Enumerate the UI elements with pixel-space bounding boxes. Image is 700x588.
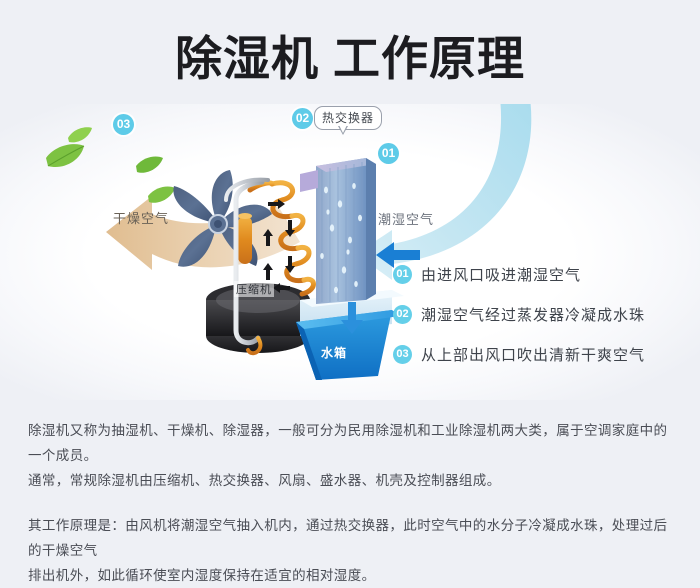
legend-text-01: 由进风口吸进潮湿空气 <box>421 264 581 285</box>
humid-air-label: 潮湿空气 <box>378 209 434 228</box>
diagram-badge-03: 03 <box>113 114 134 135</box>
legend-badge-02: 02 <box>393 305 412 324</box>
leaf-icon-group <box>46 127 175 202</box>
page-title: 除湿机工作原理 <box>0 28 700 98</box>
legend-text-02: 潮湿空气经过蒸发器冷凝成水珠 <box>421 304 645 325</box>
diagram-badge-01: 01 <box>378 143 399 164</box>
page-title-part2: 工作原理 <box>333 32 525 85</box>
diagram-badge-02: 02 <box>292 108 313 129</box>
legend-item-03: 03 从上部出风口吹出清新干爽空气 <box>393 334 683 374</box>
legend-text-03: 从上部出风口吹出清新干爽空气 <box>421 344 645 365</box>
dehumidifier-diagram: 03 02 01 热交换器 干燥空气 潮湿空气 压缩机 水箱 01 由进风口吸进… <box>0 104 700 400</box>
legend-item-01: 01 由进风口吸进潮湿空气 <box>393 254 683 294</box>
legend-badge-03: 03 <box>393 345 412 364</box>
paragraph-2-line-2: 排出机外，如此循环使室内湿度保持在适宜的相对湿度。 <box>28 563 676 588</box>
paragraph-2-line-1: 其工作原理是：由风机将潮湿空气抽入机内，通过热交换器，此时空气中的水分子冷凝成水… <box>28 513 676 563</box>
compressor-label: 压缩机 <box>234 281 274 297</box>
legend-item-02: 02 潮湿空气经过蒸发器冷凝成水珠 <box>393 294 683 334</box>
heat-exchanger-callout: 热交换器 <box>314 106 382 130</box>
dry-air-label: 干燥空气 <box>113 208 169 227</box>
callout-tail-icon <box>338 126 348 135</box>
paragraph-1-line-2: 通常，常规除湿机由压缩机、热交换器、风扇、盛水器、机壳及控制器组成。 <box>28 468 676 493</box>
description-paragraph-2: 其工作原理是：由风机将潮湿空气抽入机内，通过热交换器，此时空气中的水分子冷凝成水… <box>28 513 676 588</box>
legend-badge-01: 01 <box>393 265 412 284</box>
page-title-part1: 除湿机 <box>175 32 319 85</box>
description-section: 除湿机又称为抽湿机、干燥机、除湿器，一般可分为民用除湿机和工业除湿机两大类，属于… <box>28 418 676 588</box>
legend-list: 01 由进风口吸进潮湿空气 02 潮湿空气经过蒸发器冷凝成水珠 03 从上部出风… <box>393 254 683 374</box>
description-paragraph-1: 除湿机又称为抽湿机、干燥机、除湿器，一般可分为民用除湿机和工业除湿机两大类，属于… <box>28 418 676 493</box>
paragraph-1-line-1: 除湿机又称为抽湿机、干燥机、除湿器，一般可分为民用除湿机和工业除湿机两大类，属于… <box>28 418 676 468</box>
water-tank-label: 水箱 <box>321 344 347 361</box>
